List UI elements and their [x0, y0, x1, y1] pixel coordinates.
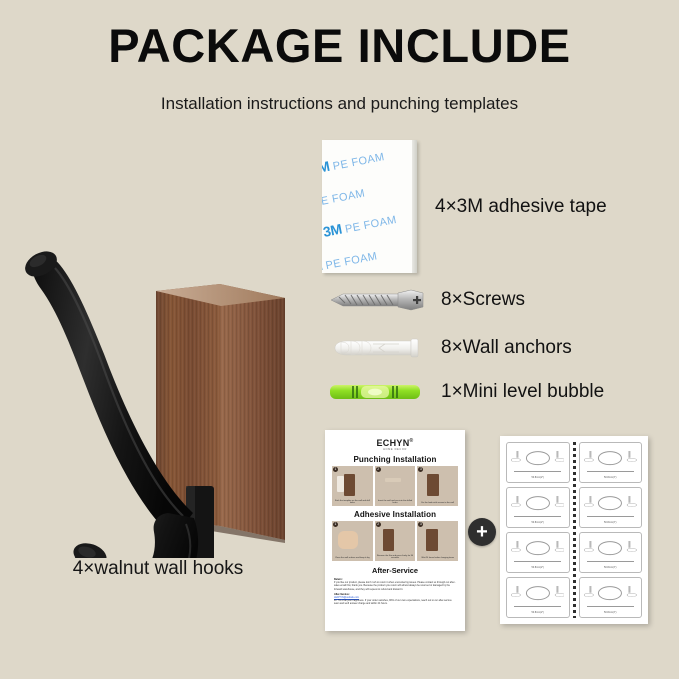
template-screw-icon	[511, 494, 525, 506]
template-card: 50.8mm(2")	[579, 442, 643, 483]
step-photo: 2 Insert the wall anchors into the drill…	[375, 466, 416, 506]
after-service-body: Return: If you like our product, please …	[325, 578, 465, 606]
template-dimension-line	[587, 561, 634, 562]
item-row-screws: 8×Screws	[327, 289, 525, 311]
template-screw-icon	[623, 584, 637, 596]
template-screw-icon	[584, 539, 598, 551]
step-number: 2	[376, 467, 381, 472]
step-photo: 1 Clean the wall surface and keep it dry	[332, 521, 373, 561]
after-service-item-body: for 7% of all your happiness. If your or…	[334, 599, 456, 605]
template-dimension-label: 50.8mm(2")	[580, 566, 642, 569]
template-grid: 50.8mm(2")	[506, 442, 642, 618]
template-oval	[598, 496, 622, 510]
brand-logo: ECHYN®	[325, 438, 465, 448]
item-label-wall-anchors: 8×Wall anchors	[441, 337, 572, 359]
template-screw-icon	[551, 494, 565, 506]
item-row-level-bubble: 1×Mini level bubble	[327, 381, 604, 403]
template-screw-icon	[584, 449, 598, 461]
template-dimension-line	[587, 606, 634, 607]
template-screw-icon	[551, 449, 565, 461]
template-dimension-line	[514, 606, 561, 607]
template-dimension-line	[514, 561, 561, 562]
item-label-screws: 8×Screws	[441, 289, 525, 311]
step-number: 1	[333, 467, 338, 472]
template-dimension-label: 50.8mm(2")	[580, 476, 642, 479]
step-caption: Insert the wall anchors into the drilled…	[376, 500, 415, 505]
plus-symbol: +	[476, 522, 488, 542]
template-card: 50.8mm(2")	[579, 487, 643, 528]
template-card: 50.8mm(2")	[506, 442, 570, 483]
template-dimension-line	[587, 516, 634, 517]
screw-icon	[327, 289, 425, 311]
template-screw-icon	[584, 494, 598, 506]
step-photo: 2 Remove the film and press firmly for 3…	[375, 521, 416, 561]
step-photo: 1 Stick the template on the wall and dri…	[332, 466, 373, 506]
wall-anchor-icon	[327, 336, 425, 360]
plus-icon: +	[468, 518, 496, 546]
item-row-wall-anchors: 8×Wall anchors	[327, 336, 572, 360]
step-caption: Clean the wall surface and keep it dry	[333, 557, 372, 560]
template-dimension-line	[587, 471, 634, 472]
level-bubble-icon	[327, 381, 425, 403]
step-caption: Wait 24 hours before hanging items	[418, 557, 457, 560]
template-card: 50.8mm(2")	[579, 577, 643, 618]
item-label-level-bubble: 1×Mini level bubble	[441, 381, 604, 403]
step-number: 3	[418, 467, 423, 472]
section-heading-punching: Punching Installation	[325, 455, 465, 464]
wall-hook-product-image	[8, 118, 318, 558]
template-screw-icon	[623, 449, 637, 461]
template-dimension-label: 50.8mm(2")	[580, 521, 642, 524]
photo-grid-adhesive: 1 Clean the wall surface and keep it dry…	[325, 521, 465, 561]
step-number: 3	[418, 522, 423, 527]
item-label-adhesive-tape: 4×3M adhesive tape	[435, 196, 607, 218]
template-card: 50.8mm(2")	[506, 577, 570, 618]
template-dimension-label: 50.8mm(2")	[507, 476, 569, 479]
template-oval	[526, 496, 550, 510]
product-caption: 4×walnut wall hooks	[8, 558, 308, 580]
template-screw-icon	[511, 584, 525, 596]
package-include-graphic: PACKAGE INCLUDE Installation instruction…	[0, 0, 679, 679]
page-title: PACKAGE INCLUDE	[0, 18, 679, 73]
template-oval	[598, 586, 622, 600]
step-photo: 3 Fix the hook with screws to the wall	[417, 466, 458, 506]
template-dimension-line	[514, 516, 561, 517]
template-screw-icon	[511, 539, 525, 551]
template-dimension-label: 50.8mm(2")	[507, 611, 569, 614]
template-screw-icon	[584, 584, 598, 596]
template-oval	[526, 541, 550, 555]
template-screw-icon	[511, 449, 525, 461]
documents-group: ECHYN® HOME DECOR Punching Installation …	[322, 428, 652, 633]
tape-pattern: 3M PE FOAM 3M PE FOAM 3M PE FOAM 3M PE F…	[322, 140, 417, 273]
step-caption: Stick the template on the wall and drill…	[333, 500, 372, 505]
template-screw-icon	[551, 584, 565, 596]
brand-registered-mark: ®	[410, 438, 414, 444]
brand-tagline: HOME DECOR	[325, 448, 465, 451]
template-dimension-label: 50.8mm(2")	[507, 521, 569, 524]
section-heading-adhesive: Adhesive Installation	[325, 510, 465, 519]
after-service-heading: After-Service	[325, 566, 465, 575]
tape-stack-edge	[412, 140, 417, 273]
template-dimension-label: 50.8mm(2")	[507, 566, 569, 569]
step-caption: Remove the film and press firmly for 30 …	[376, 555, 415, 560]
page-subtitle: Installation instructions and punching t…	[0, 94, 679, 114]
template-screw-icon	[623, 494, 637, 506]
template-oval	[598, 541, 622, 555]
step-photo: 3 Wait 24 hours before hanging items	[417, 521, 458, 561]
step-number: 1	[333, 522, 338, 527]
cut-line	[570, 442, 579, 618]
photo-grid-punching: 1 Stick the template on the wall and dri…	[325, 466, 465, 506]
template-dimension-label: 50.8mm(2")	[580, 611, 642, 614]
template-card: 50.8mm(2")	[579, 532, 643, 573]
template-card: 50.8mm(2")	[506, 532, 570, 573]
step-number: 2	[376, 522, 381, 527]
step-caption: Fix the hook with screws to the wall	[418, 502, 457, 505]
template-screw-icon	[551, 539, 565, 551]
brand-name: ECHYN	[377, 438, 410, 448]
template-oval	[598, 451, 622, 465]
template-oval	[526, 586, 550, 600]
template-dimension-line	[514, 471, 561, 472]
after-service-item-body: If you like our product, please don't ru…	[334, 581, 456, 591]
template-screw-icon	[623, 539, 637, 551]
item-row-adhesive-tape: 3M PE FOAM 3M PE FOAM 3M PE FOAM 3M PE F…	[322, 140, 607, 273]
adhesive-tape-icon: 3M PE FOAM 3M PE FOAM 3M PE FOAM 3M PE F…	[322, 140, 417, 273]
instruction-sheet: ECHYN® HOME DECOR Punching Installation …	[325, 430, 465, 631]
template-oval	[526, 451, 550, 465]
punching-template-sheet: 50.8mm(2")	[500, 436, 648, 624]
template-card: 50.8mm(2")	[506, 487, 570, 528]
